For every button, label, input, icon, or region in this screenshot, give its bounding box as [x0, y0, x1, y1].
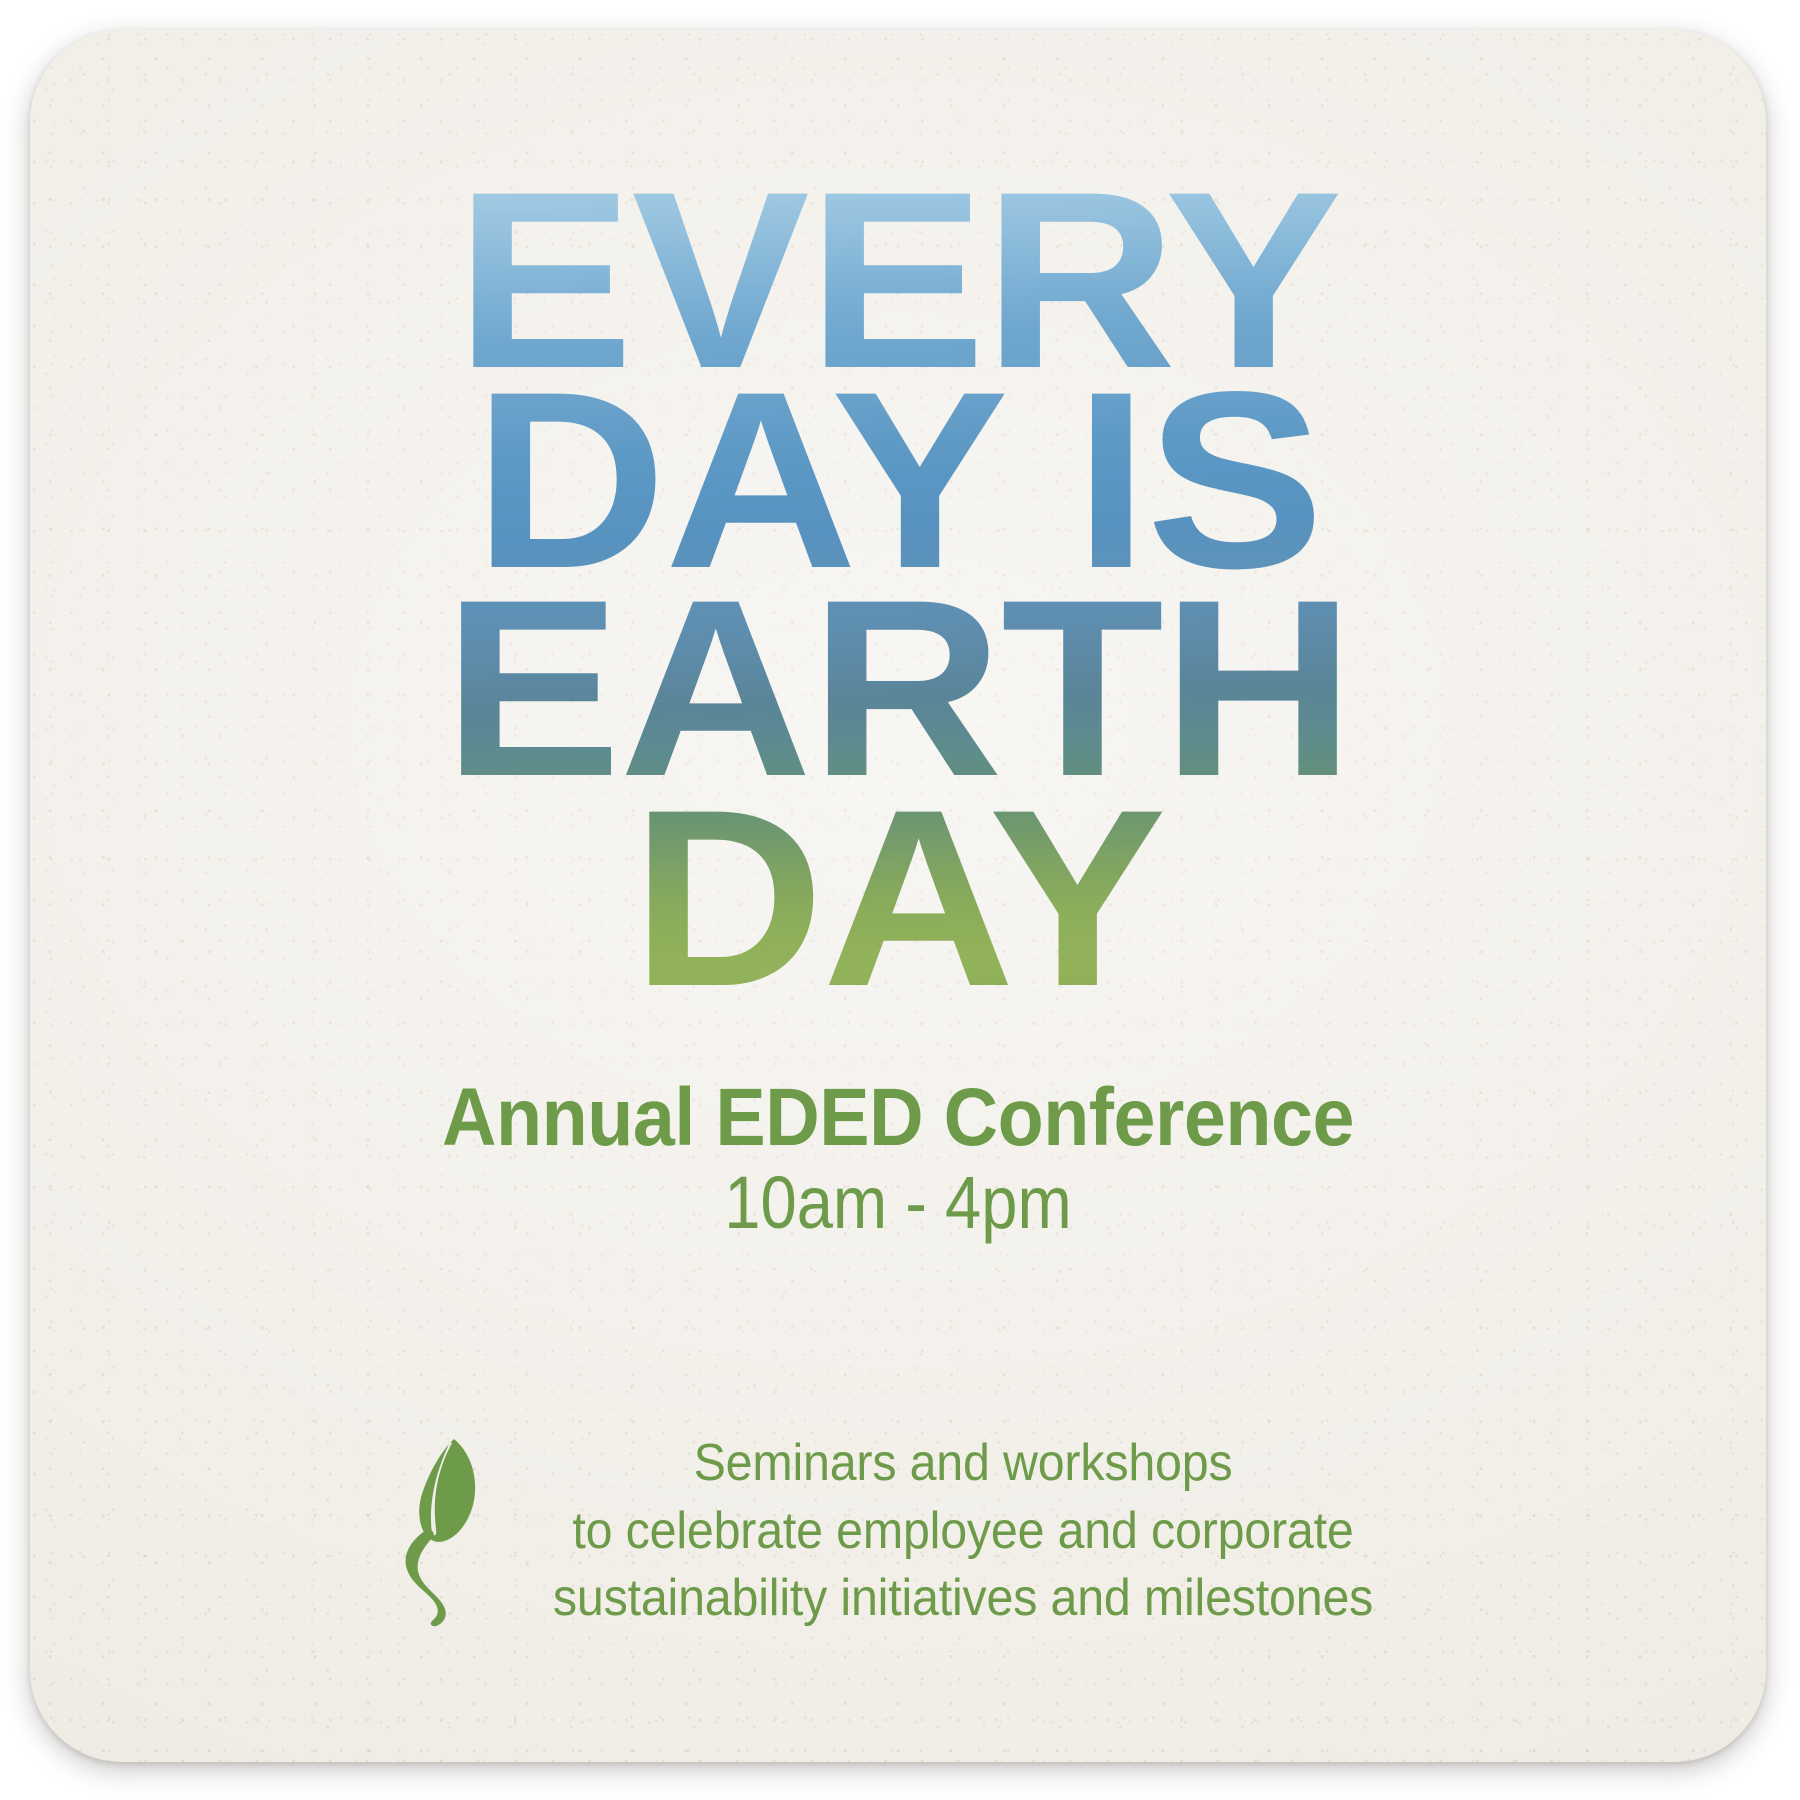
footer-description: Seminars and workshops to celebrate empl… [553, 1430, 1373, 1633]
poster-content: EVERY DAY IS EARTH DAY Annual EDED Confe… [30, 30, 1766, 1762]
headline-line-4: DAY [30, 798, 1766, 1000]
subtitle-block: Annual EDED Conference 10am - 4pm [30, 1076, 1766, 1242]
conference-title: Annual EDED Conference [99, 1076, 1696, 1160]
headline-line: DAY [30, 798, 1766, 1008]
leaf-sprout-icon [392, 1433, 496, 1629]
headline: EVERY DAY IS EARTH DAY [30, 180, 1766, 1008]
conference-time: 10am - 4pm [134, 1164, 1662, 1242]
footer-block: Seminars and workshops to celebrate empl… [30, 1430, 1766, 1633]
poster-canvas: EVERY DAY IS EARTH DAY Annual EDED Confe… [0, 0, 1800, 1800]
poster-card: EVERY DAY IS EARTH DAY Annual EDED Confe… [30, 30, 1766, 1762]
